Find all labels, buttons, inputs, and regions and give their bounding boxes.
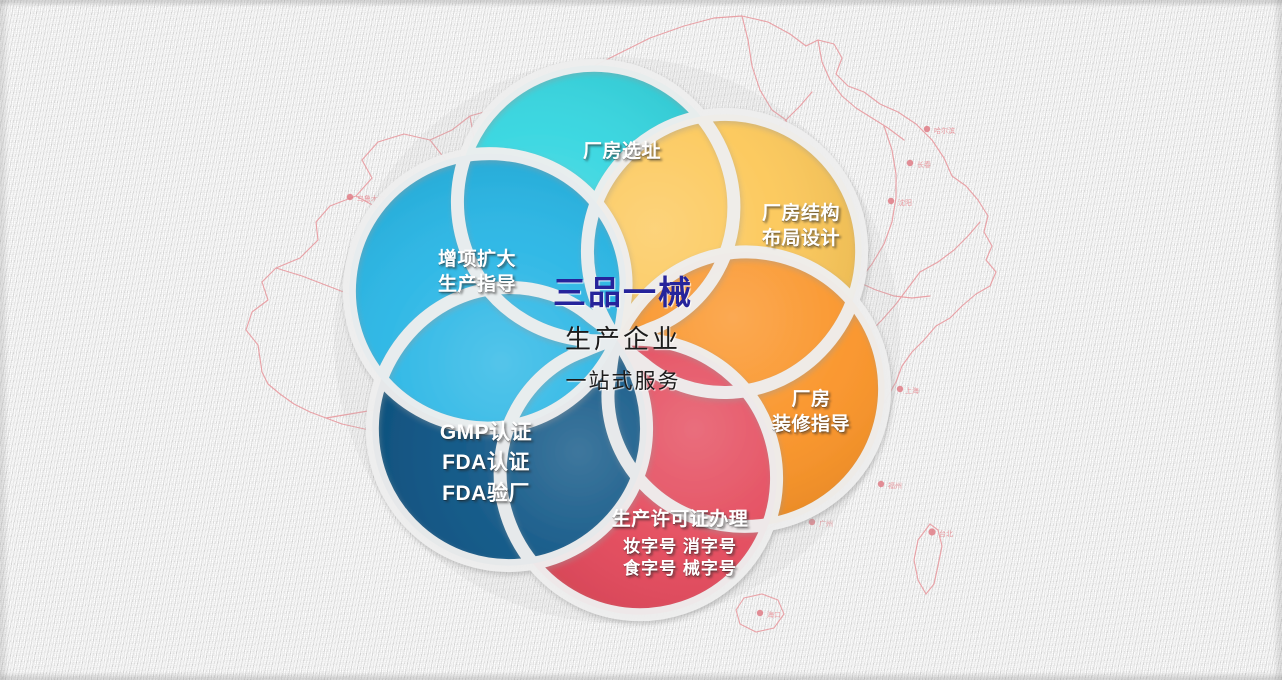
pinwheel-diagram — [267, 40, 967, 640]
poster-canvas: 哈尔滨 长春 沈阳 北京 呼和浩特 济南 郑州 西安 南京 上海 武汉 成都 长… — [0, 0, 1282, 680]
